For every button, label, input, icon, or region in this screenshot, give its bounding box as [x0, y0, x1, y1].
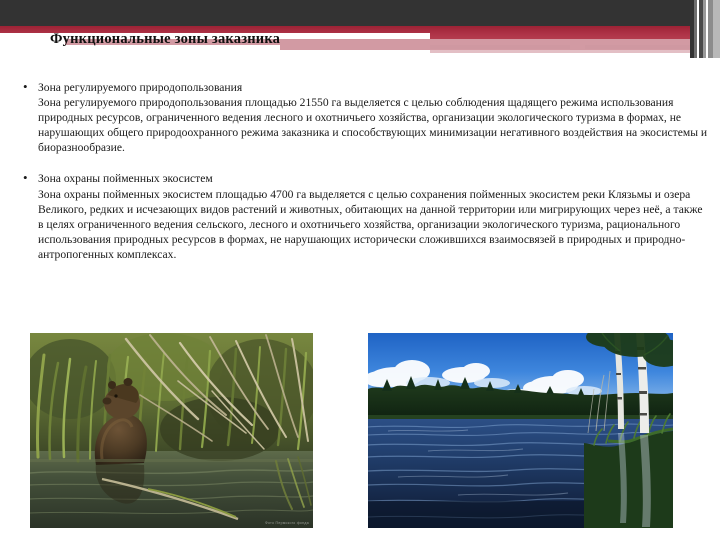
- photo-lake-with-forest: [368, 333, 673, 528]
- bullet-paragraph-2: • Зона охраны пойменных экосистем Зона о…: [16, 171, 708, 262]
- slide-body: • Зона регулируемого природопользования …: [16, 80, 708, 278]
- bullet-marker-1: •: [23, 79, 28, 94]
- paragraph-2-detail: Зона охраны пойменных экосистем площадью…: [38, 187, 708, 262]
- header-rule-right-b: [585, 45, 705, 49]
- header-dark-band: [0, 0, 720, 26]
- header-corner-stripes: [690, 0, 720, 58]
- paragraph-2-heading: Зона охраны пойменных экосистем: [38, 171, 708, 186]
- slide-title: Функциональные зоны заказника: [50, 31, 280, 48]
- photo-beaver-in-reeds: Фото Пермского фонда: [30, 333, 313, 528]
- corner-stripe-7: [713, 0, 720, 58]
- header-rule-right-a: [430, 45, 570, 49]
- beaver-photo-artwork: [30, 333, 313, 528]
- paragraph-1-detail: Зона регулируемого природопользования пл…: [38, 95, 708, 155]
- bullet-marker-2: •: [23, 170, 28, 185]
- lake-photo-artwork: [368, 333, 673, 528]
- photo-watermark-beaver: Фото Пермского фонда: [265, 521, 309, 525]
- presentation-slide: Функциональные зоны заказника • Зона рег…: [0, 0, 720, 540]
- bullet-paragraph-1: • Зона регулируемого природопользования …: [16, 80, 708, 155]
- paragraph-1-heading: Зона регулируемого природопользования: [38, 80, 708, 95]
- header-rule-lower: [430, 50, 690, 53]
